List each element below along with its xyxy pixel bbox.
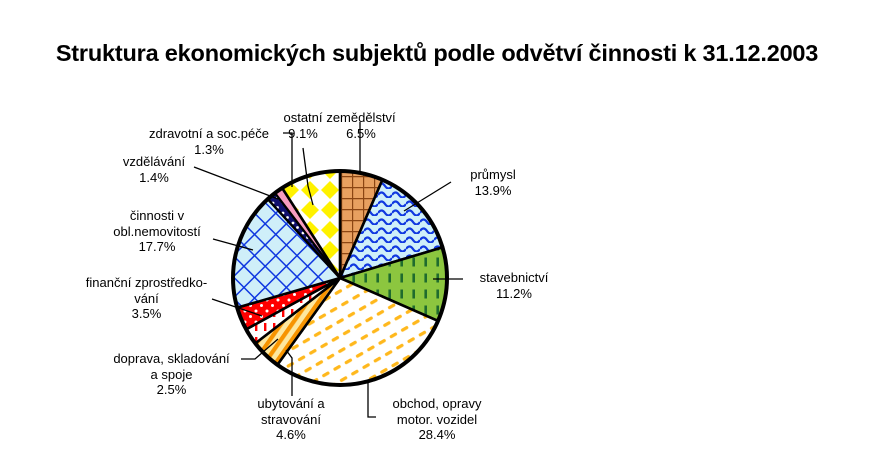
pie-label-zemedelstvi-name: zemědělství [313, 110, 409, 126]
pie-label-financni-value: 3.5% [81, 306, 212, 322]
pie-label-vzdelavani-name: vzdělávání [114, 154, 194, 170]
pie-label-vzdelavani-value: 1.4% [114, 170, 194, 186]
pie-label-prumysl-name: průmysl [452, 167, 534, 183]
pie-label-ubytovani-name-1: ubytování a [231, 396, 351, 412]
pie-label-ubytovani-value: 4.6% [231, 427, 351, 443]
pie-label-prumysl: průmysl 13.9% [452, 167, 534, 198]
pie-label-nemovitosti-name-2: obl.nemovitostí [101, 224, 213, 240]
leader-line-zdravotni [283, 133, 292, 187]
pie-label-financni-name-2: vání [81, 291, 212, 307]
pie-label-zemedelstvi-value: 6.5% [313, 126, 409, 142]
pie-label-nemovitosti-name-1: činnosti v [101, 208, 213, 224]
pie-label-stavebnictvi: stavebnictví 11.2% [466, 270, 562, 301]
pie-label-obchod: obchod, opravy motor. vozidel 28.4% [376, 396, 498, 443]
pie-chart-plot-area: ostatní 9.1% zemědělství 6.5% zdravotní … [0, 0, 874, 456]
pie-label-zemedelstvi: zemědělství 6.5% [313, 110, 409, 141]
pie-label-doprava-name-2: a spoje [106, 367, 237, 383]
pie-label-stavebnictvi-value: 11.2% [466, 286, 562, 302]
pie-label-zdravotni: zdravotní a soc.péče 1.3% [135, 126, 283, 157]
leader-line-obchod [368, 382, 376, 417]
pie-label-financni-name-1: finanční zprostředko- [81, 275, 212, 291]
pie-label-doprava: doprava, skladování a spoje 2.5% [106, 351, 237, 398]
pie-label-obchod-name-2: motor. vozidel [376, 412, 498, 428]
pie-label-vzdelavani: vzdělávání 1.4% [114, 154, 194, 185]
pie-label-nemovitosti-value: 17.7% [101, 239, 213, 255]
pie-label-ubytovani-name-2: stravování [231, 412, 351, 428]
pie-label-obchod-name-1: obchod, opravy [376, 396, 498, 412]
pie-label-nemovitosti: činnosti v obl.nemovitostí 17.7% [101, 208, 213, 255]
pie-label-financni: finanční zprostředko- vání 3.5% [81, 275, 212, 322]
pie-label-ubytovani: ubytování a stravování 4.6% [231, 396, 351, 443]
pie-label-obchod-value: 28.4% [376, 427, 498, 443]
pie-label-doprava-value: 2.5% [106, 382, 237, 398]
pie-label-doprava-name-1: doprava, skladování [106, 351, 237, 367]
leader-line-vzdelavani [194, 167, 278, 199]
pie-label-stavebnictvi-name: stavebnictví [466, 270, 562, 286]
pie-label-prumysl-value: 13.9% [452, 183, 534, 199]
chart-page: Struktura ekonomických subjektů podle od… [0, 0, 874, 456]
pie-label-zdravotni-name: zdravotní a soc.péče [135, 126, 283, 142]
